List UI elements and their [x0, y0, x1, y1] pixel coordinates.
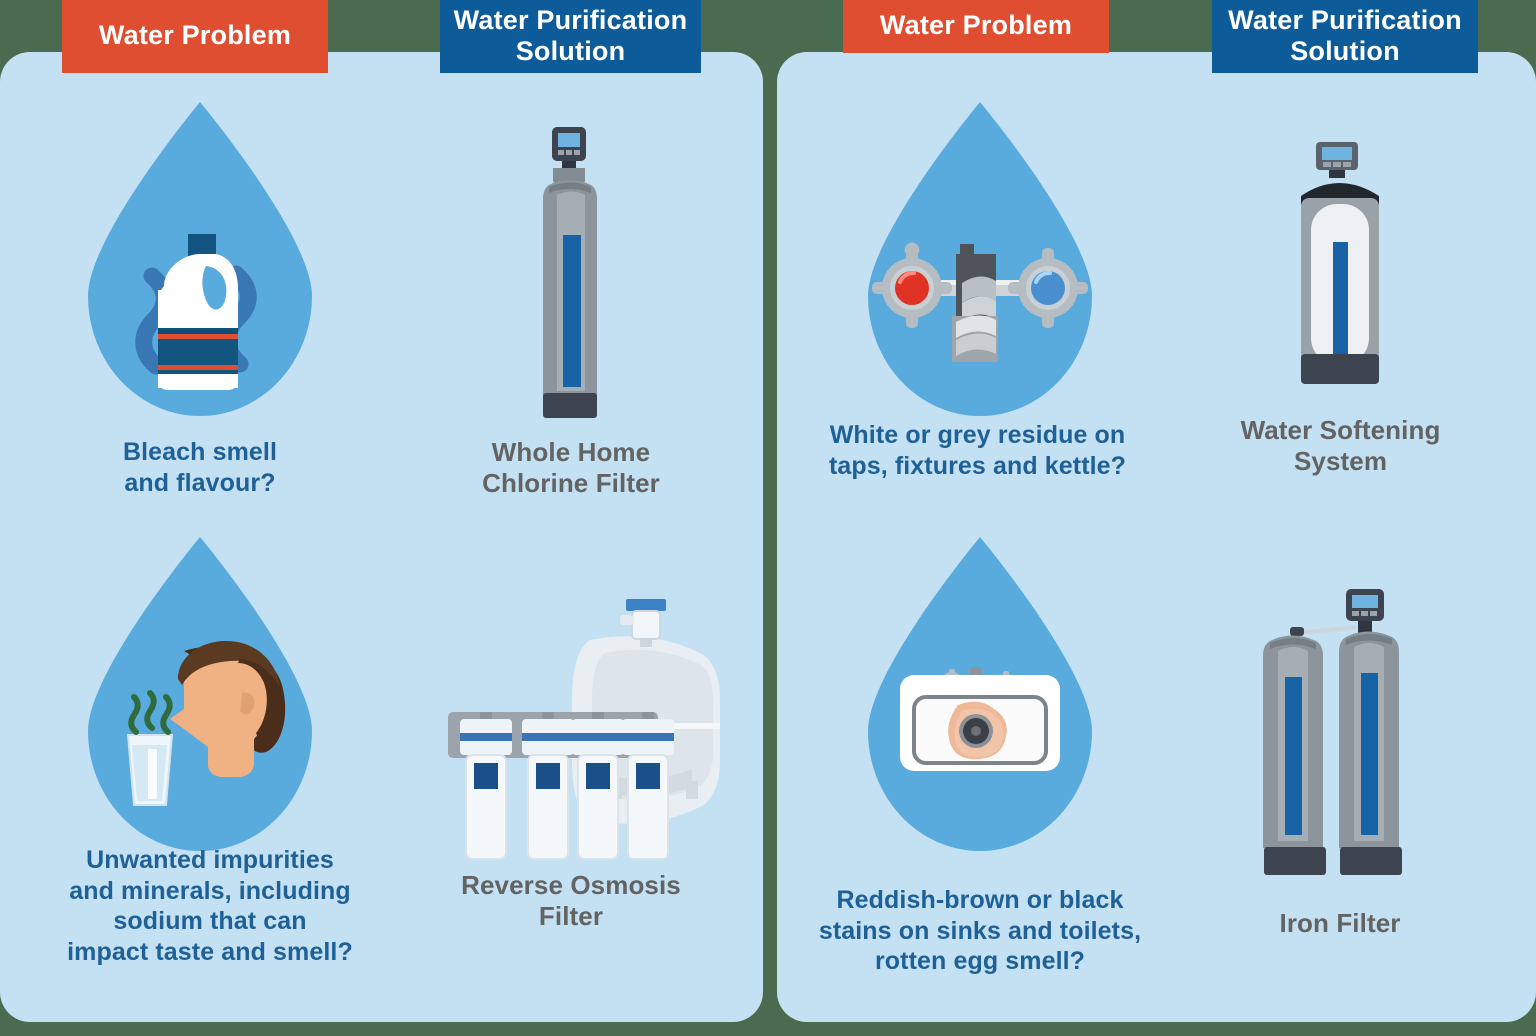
- head-drinking-glass-droplet-icon: [72, 533, 328, 851]
- header-water-problem-left: Water Problem: [62, 0, 328, 73]
- header-water-problem-right: Water Problem: [843, 0, 1109, 53]
- stained-sink-droplet-icon: [852, 533, 1108, 851]
- caption-solution-chlorine-filter: Whole Home Chlorine Filter: [440, 437, 702, 499]
- limescale-tap-droplet-icon: [852, 98, 1108, 416]
- caption-problem-impurities: Unwanted impurities and minerals, includ…: [40, 845, 380, 967]
- iron-filter-dual-tank-icon: [1248, 585, 1433, 890]
- header-water-purification-solution-left: Water Purification Solution: [440, 0, 701, 73]
- caption-problem-bleach: Bleach smell and flavour?: [60, 437, 340, 498]
- infographic-stage: Water Problem Water Purification Solutio…: [0, 0, 1536, 1036]
- water-softening-system-icon: [1275, 140, 1405, 400]
- bleach-bottle-droplet-icon: [72, 98, 328, 416]
- reverse-osmosis-filter-icon: [440, 585, 730, 870]
- header-water-purification-solution-right: Water Purification Solution: [1212, 0, 1478, 73]
- caption-solution-water-softening: Water Softening System: [1198, 415, 1483, 477]
- caption-problem-reddish-stains: Reddish-brown or black stains on sinks a…: [790, 885, 1170, 977]
- caption-problem-white-residue: White or grey residue on taps, fixtures …: [795, 420, 1160, 481]
- whole-home-chlorine-filter-icon: [505, 125, 635, 420]
- caption-solution-iron-filter: Iron Filter: [1215, 908, 1465, 939]
- caption-solution-reverse-osmosis: Reverse Osmosis Filter: [440, 870, 702, 932]
